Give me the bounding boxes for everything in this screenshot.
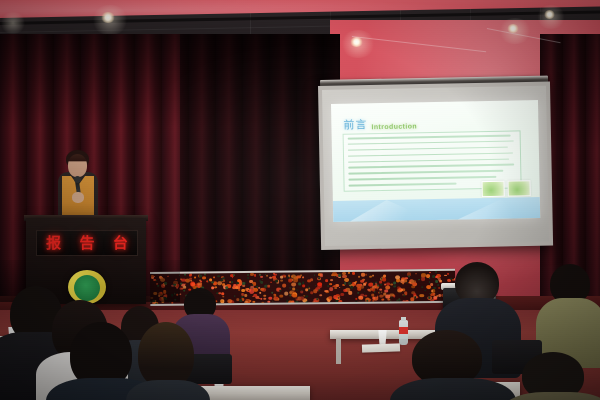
documents <box>362 343 400 352</box>
podium-sign: 报 告 台 <box>36 230 138 256</box>
bottle-label <box>399 327 408 334</box>
stage-curtain-shadow <box>180 34 340 302</box>
spotlight-icon <box>350 37 363 47</box>
speaker-head <box>68 154 87 177</box>
spotlight-icon <box>544 10 555 19</box>
spotlight-glow <box>0 12 26 34</box>
podium-sign-char: 告 <box>79 236 94 251</box>
podium-emblem-inner <box>74 275 100 301</box>
spotlight-icon <box>101 12 115 23</box>
slide-title-cn: 前言 <box>343 116 367 132</box>
slide-thumbnail-image <box>508 180 531 196</box>
presentation-hall-photo: 前言 Introduction 报 <box>0 0 600 400</box>
slide-thumbnail-image <box>482 181 505 197</box>
table-leg <box>336 338 341 364</box>
podium-sign-char: 报 <box>46 236 61 251</box>
podium-sign-char: 台 <box>113 236 128 251</box>
speaker-hand <box>72 192 84 203</box>
presentation-slide: 前言 Introduction <box>331 100 540 222</box>
slide-title-en: Introduction <box>371 123 417 132</box>
bottle-cap <box>401 317 406 321</box>
slide-thumbnails <box>482 180 531 197</box>
slide-title: 前言 Introduction <box>343 115 417 132</box>
microphone-head <box>74 176 81 183</box>
slide-footer-banner <box>333 197 540 222</box>
person-head <box>138 322 194 388</box>
